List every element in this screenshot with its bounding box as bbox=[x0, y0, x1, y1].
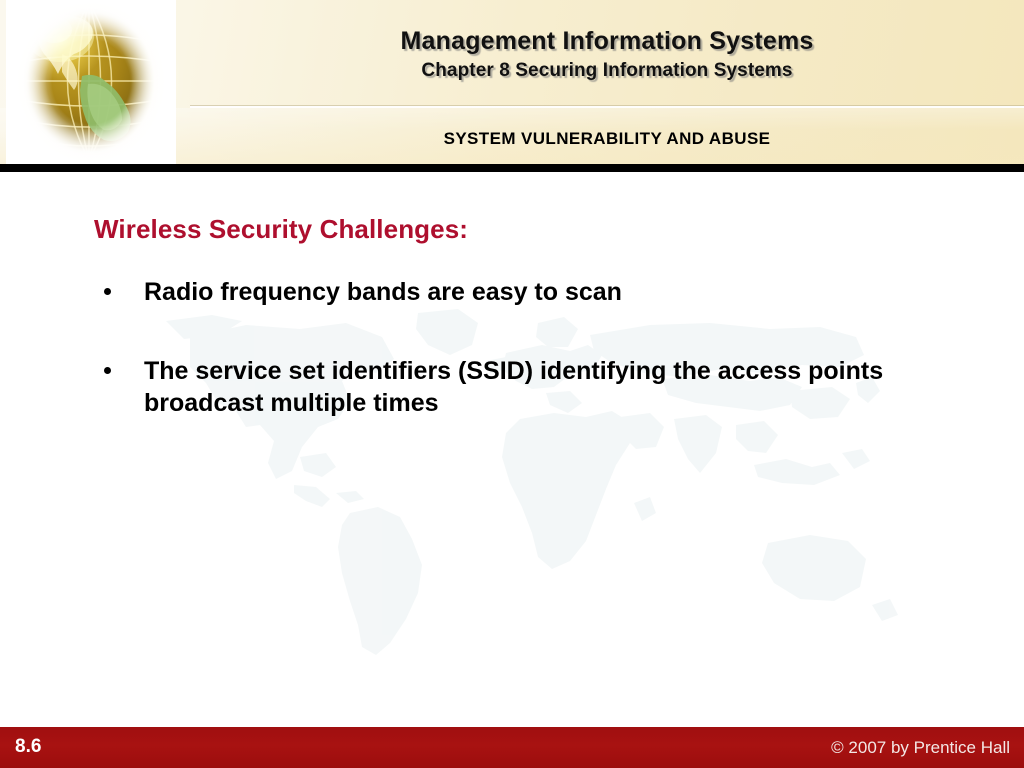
globe-graticule-icon bbox=[18, 2, 160, 160]
course-title: Management Information Systems bbox=[190, 27, 1024, 56]
globe-icon bbox=[0, 0, 186, 164]
list-item: Radio frequency bands are easy to scan bbox=[94, 276, 954, 309]
slide-number: 8.6 bbox=[15, 736, 41, 758]
header-divider bbox=[190, 105, 1024, 108]
list-item: The service set identifiers (SSID) ident… bbox=[94, 355, 954, 420]
globe-sphere bbox=[18, 2, 160, 160]
bullet-dot-icon bbox=[104, 367, 111, 374]
slide-body: Wireless Security Challenges: Radio freq… bbox=[0, 172, 1024, 727]
header-black-rule bbox=[0, 164, 1024, 172]
slide-footer: 8.6 © 2007 by Prentice Hall bbox=[0, 727, 1024, 768]
list-item-text: Radio frequency bands are easy to scan bbox=[144, 276, 934, 309]
bullet-list: Radio frequency bands are easy to scan T… bbox=[94, 276, 954, 466]
slide-content: Wireless Security Challenges: Radio freq… bbox=[0, 172, 1024, 727]
slide-header: Management Information Systems Chapter 8… bbox=[0, 0, 1024, 164]
bullet-dot-icon bbox=[104, 288, 111, 295]
copyright-text: © 2007 by Prentice Hall bbox=[831, 738, 1010, 758]
slide: Management Information Systems Chapter 8… bbox=[0, 0, 1024, 768]
list-item-text: The service set identifiers (SSID) ident… bbox=[144, 355, 934, 420]
chapter-subtitle: Chapter 8 Securing Information Systems bbox=[190, 60, 1024, 82]
section-heading: SYSTEM VULNERABILITY AND ABUSE bbox=[190, 129, 1024, 149]
page-title: Wireless Security Challenges: bbox=[94, 214, 468, 245]
